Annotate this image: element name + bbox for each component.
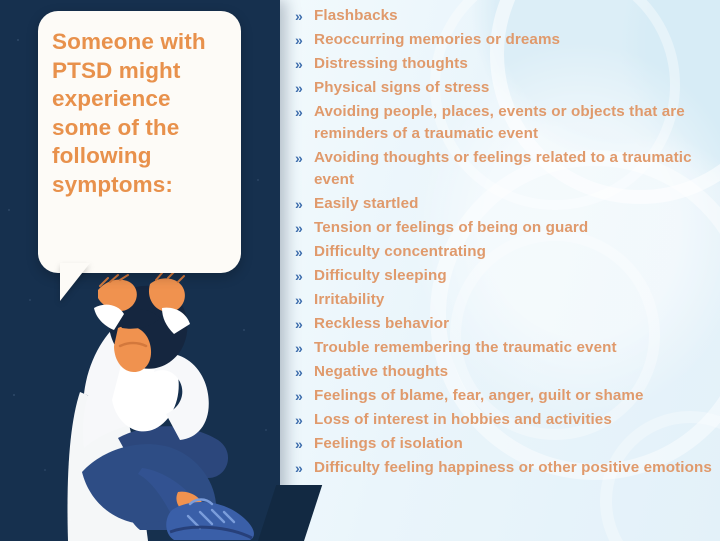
chevron-double-right-icon: » — [294, 385, 314, 407]
list-item-label: Avoiding thoughts or feelings related to… — [314, 147, 712, 191]
list-item-label: Tension or feelings of being on guard — [314, 217, 712, 239]
chevron-double-right-icon: » — [294, 77, 314, 99]
list-item-label: Negative thoughts — [314, 361, 712, 383]
list-item: »Easily startled — [294, 193, 712, 215]
chevron-double-right-icon: » — [294, 241, 314, 263]
list-item-label: Feelings of blame, fear, anger, guilt or… — [314, 385, 712, 407]
list-item: »Distressing thoughts — [294, 53, 712, 75]
chevron-double-right-icon: » — [294, 29, 314, 51]
list-item-label: Distressing thoughts — [314, 53, 712, 75]
chevron-double-right-icon: » — [294, 337, 314, 359]
list-item: »Feelings of isolation — [294, 433, 712, 455]
list-item: »Trouble remembering the traumatic event — [294, 337, 712, 359]
list-item-label: Feelings of isolation — [314, 433, 712, 455]
chevron-double-right-icon: » — [294, 101, 314, 123]
chevron-double-right-icon: » — [294, 289, 314, 311]
chevron-double-right-icon: » — [294, 193, 314, 215]
chevron-double-right-icon: » — [294, 217, 314, 239]
list-item: »Reoccurring memories or dreams — [294, 29, 712, 51]
infographic-ptsd-symptoms: »Flashbacks»Reoccurring memories or drea… — [0, 0, 720, 541]
symptom-list: »Flashbacks»Reoccurring memories or drea… — [294, 5, 712, 481]
chevron-double-right-icon: » — [294, 409, 314, 431]
list-item: »Loss of interest in hobbies and activit… — [294, 409, 712, 431]
list-item-label: Physical signs of stress — [314, 77, 712, 99]
list-item-label: Reckless behavior — [314, 313, 712, 335]
list-item: »Reckless behavior — [294, 313, 712, 335]
chevron-double-right-icon: » — [294, 433, 314, 455]
list-item-label: Difficulty concentrating — [314, 241, 712, 263]
list-item: »Avoiding thoughts or feelings related t… — [294, 147, 712, 191]
page-title: Someone with PTSD might experience some … — [52, 28, 234, 200]
chevron-double-right-icon: » — [294, 53, 314, 75]
list-item: »Negative thoughts — [294, 361, 712, 383]
list-item: »Physical signs of stress — [294, 77, 712, 99]
list-item: »Tension or feelings of being on guard — [294, 217, 712, 239]
speech-bubble-tail-icon — [60, 263, 90, 301]
list-item-label: Flashbacks — [314, 5, 712, 27]
chevron-double-right-icon: » — [294, 5, 314, 27]
list-item: »Feelings of blame, fear, anger, guilt o… — [294, 385, 712, 407]
list-item: »Flashbacks — [294, 5, 712, 27]
list-item-label: Easily startled — [314, 193, 712, 215]
chevron-double-right-icon: » — [294, 313, 314, 335]
list-item-label: Trouble remembering the traumatic event — [314, 337, 712, 359]
list-item: »Difficulty sleeping — [294, 265, 712, 287]
list-item: »Difficulty concentrating — [294, 241, 712, 263]
list-item: »Irritability — [294, 289, 712, 311]
list-item-label: Loss of interest in hobbies and activiti… — [314, 409, 712, 431]
list-item-label: Irritability — [314, 289, 712, 311]
chevron-double-right-icon: » — [294, 265, 314, 287]
list-item-label: Difficulty feeling happiness or other po… — [314, 457, 712, 479]
list-item: »Difficulty feeling happiness or other p… — [294, 457, 712, 479]
person-sitting-illustration — [22, 272, 280, 541]
list-item-label: Reoccurring memories or dreams — [314, 29, 712, 51]
list-item: »Avoiding people, places, events or obje… — [294, 101, 712, 145]
chevron-double-right-icon: » — [294, 361, 314, 383]
symptoms-panel: »Flashbacks»Reoccurring memories or drea… — [278, 0, 720, 541]
chevron-double-right-icon: » — [294, 457, 314, 479]
list-item-label: Difficulty sleeping — [314, 265, 712, 287]
chevron-double-right-icon: » — [294, 147, 314, 169]
list-item-label: Avoiding people, places, events or objec… — [314, 101, 712, 145]
